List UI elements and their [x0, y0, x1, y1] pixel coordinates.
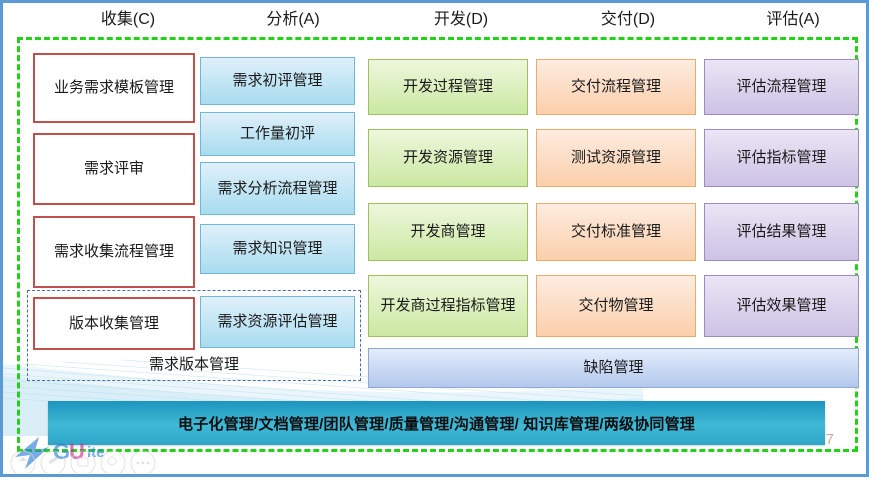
process-box-collect-1[interactable]: 需求评审	[33, 133, 195, 205]
page-number: 7	[826, 431, 834, 448]
process-box-evaluate-3[interactable]: 评估效果管理	[704, 275, 859, 337]
process-box-collect-2[interactable]: 需求收集流程管理	[33, 216, 195, 288]
process-box-develop-1[interactable]: 开发资源管理	[368, 129, 528, 187]
process-box-deliver-1[interactable]: 测试资源管理	[536, 129, 696, 187]
process-box-analyze-3[interactable]: 需求知识管理	[200, 224, 355, 274]
process-box-analyze-2[interactable]: 需求分析流程管理	[200, 162, 355, 215]
process-box-analyze-4[interactable]: 需求资源评估管理	[200, 296, 355, 348]
process-box-evaluate-2[interactable]: 评估结果管理	[704, 203, 859, 261]
process-box-deliver-3[interactable]: 交付物管理	[536, 275, 696, 337]
foundation-band-label: 电子化管理/文档管理/团队管理/质量管理/沟通管理/ 知识库管理/两级协同管理	[178, 413, 695, 434]
subgroup-label-requirement-version-management: 需求版本管理	[27, 353, 361, 377]
process-box-deliver-0[interactable]: 交付流程管理	[536, 59, 696, 115]
process-box-develop-3[interactable]: 开发商过程指标管理	[368, 275, 528, 337]
process-box-defect-management[interactable]: 缺陷管理	[368, 348, 859, 388]
process-box-analyze-0[interactable]: 需求初评管理	[200, 57, 355, 105]
process-box-evaluate-1[interactable]: 评估指标管理	[704, 129, 859, 187]
process-box-deliver-2[interactable]: 交付标准管理	[536, 203, 696, 261]
process-box-collect-0[interactable]: 业务需求模板管理	[33, 53, 195, 123]
process-box-analyze-1[interactable]: 工作量初评	[200, 112, 355, 156]
process-box-evaluate-0[interactable]: 评估流程管理	[704, 59, 859, 115]
process-box-develop-2[interactable]: 开发商管理	[368, 203, 528, 261]
process-box-collect-3[interactable]: 版本收集管理	[33, 297, 195, 350]
slide-canvas: 收集(C)分析(A)开发(D)交付(D)评估(A) 需求版本管理业务需求模板管理…	[0, 0, 869, 477]
process-box-develop-0[interactable]: 开发过程管理	[368, 59, 528, 115]
foundation-band: 电子化管理/文档管理/团队管理/质量管理/沟通管理/ 知识库管理/两级协同管理	[48, 401, 825, 445]
